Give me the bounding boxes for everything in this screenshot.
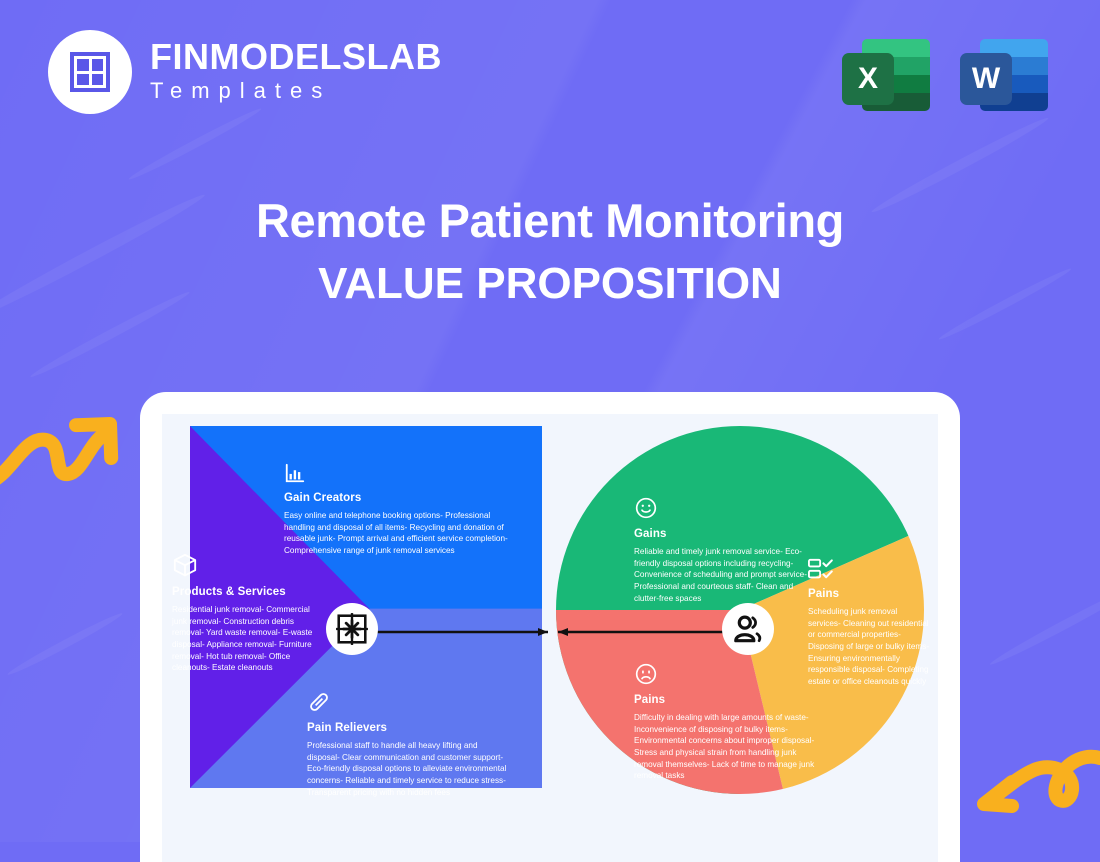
excel-icon-letter: X [842,53,894,105]
brand-text: FINMODELSLAB Templates [150,39,442,106]
word-icon: W [960,31,1048,115]
block-title: Pain Relievers [307,722,512,734]
brand-subtitle: Templates [150,77,442,106]
title-line-2: VALUE PROPOSITION [0,259,1100,309]
bar-chart-icon [284,462,306,484]
block-products-services: Products & Services Residential junk rem… [172,552,324,674]
logo-mark [48,30,132,114]
excel-icon: X [842,31,930,115]
block-title: Products & Services [172,586,324,598]
block-body: Residential junk removal- Commercial jun… [172,604,324,674]
block-title: Pains [808,588,930,600]
block-gains: Gains Reliable and timely junk removal s… [634,496,809,604]
brush-stroke-6 [988,581,1100,669]
block-body: Scheduling junk removal services- Cleani… [808,606,930,687]
value-map-icon [335,612,369,646]
block-pain-relievers: Pain Relievers Professional staff to han… [307,690,512,798]
smiley-happy-icon [634,496,658,520]
brush-stroke-3 [127,105,263,182]
block-title: Gain Creators [284,492,516,504]
brand-name: FINMODELSLAB [150,39,442,75]
value-map-icon-badge[interactable] [326,603,378,655]
page-title: Remote Patient Monitoring VALUE PROPOSIT… [0,196,1100,309]
title-line-1: Remote Patient Monitoring [0,196,1100,247]
box-icon [172,552,198,578]
word-icon-letter: W [960,53,1012,105]
block-gain-creators: Gain Creators Easy online and telephone … [284,462,516,557]
customer-people-icon [731,612,765,646]
block-pains: Pains Difficulty in dealing with large a… [634,662,824,782]
squiggle-arrow-up-right-icon [0,402,127,502]
brush-stroke-7 [6,610,125,678]
smiley-sad-icon [634,662,658,686]
connector-arrow [372,626,724,638]
pill-icon [307,690,331,714]
squiggle-arrow-down-left-icon [964,748,1100,844]
office-format-icons: X W [842,31,1048,115]
block-body: Easy online and telephone booking option… [284,510,516,557]
block-title: Pains [634,694,824,706]
brand-header: FINMODELSLAB Templates [48,30,442,114]
block-customer-jobs: Pains Scheduling junk removal services- … [808,558,930,687]
customer-icon-badge[interactable] [722,603,774,655]
block-body: Professional staff to handle all heavy l… [307,740,512,798]
block-body: Difficulty in dealing with large amounts… [634,712,824,782]
block-title: Gains [634,528,809,540]
checklist-icon [808,558,836,580]
grid-logo-icon [70,52,110,92]
block-body: Reliable and timely junk removal service… [634,546,809,604]
